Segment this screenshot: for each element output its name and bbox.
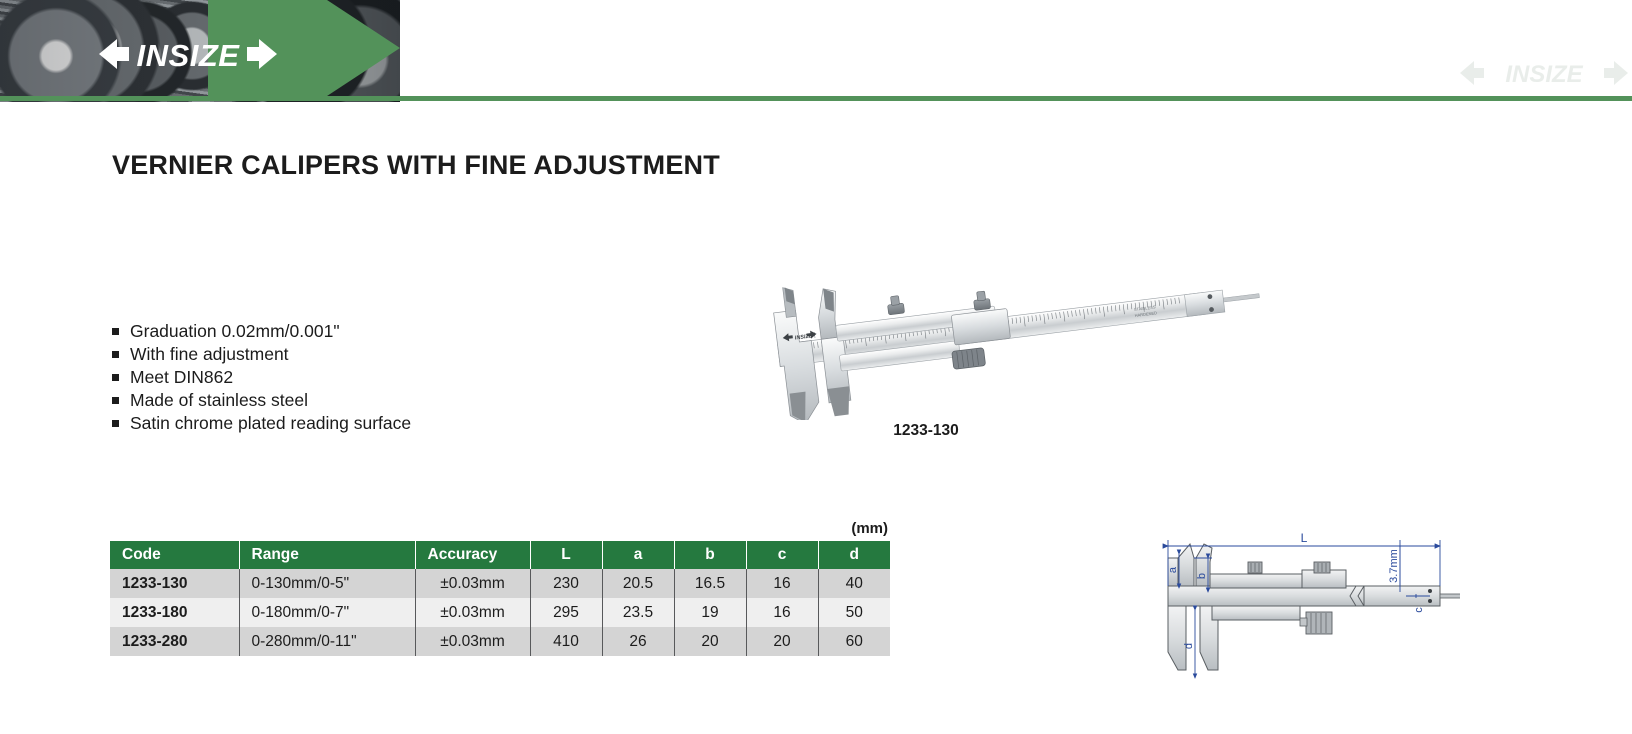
- table-row: 1233-130 0-130mm/0-5" ±0.03mm 230 20.5 1…: [110, 569, 890, 598]
- table-row: 1233-180 0-180mm/0-7" ±0.03mm 295 23.5 1…: [110, 598, 890, 627]
- cell-range: 0-180mm/0-7": [239, 598, 415, 627]
- list-item: Made of stainless steel: [112, 389, 411, 412]
- feature-text: Made of stainless steel: [130, 389, 308, 412]
- product-model-caption: 1233-130: [726, 422, 1126, 440]
- cell-c: 16: [746, 569, 818, 598]
- cell-code: 1233-130: [110, 569, 239, 598]
- cell-a: 20.5: [602, 569, 674, 598]
- square-bullet-icon: [112, 397, 119, 404]
- column-header-accuracy: Accuracy: [415, 541, 530, 569]
- cell-l: 410: [530, 627, 602, 656]
- column-header-b: b: [674, 541, 746, 569]
- list-item: Meet DIN862: [112, 366, 411, 389]
- dimension-label-thickness: 3.7mm: [1388, 549, 1400, 583]
- header-green-rule: [0, 96, 1632, 101]
- cell-d: 50: [818, 598, 890, 627]
- feature-text: Graduation 0.02mm/0.001": [130, 320, 340, 343]
- cell-accuracy: ±0.03mm: [415, 627, 530, 656]
- cell-d: 40: [818, 569, 890, 598]
- column-header-c: c: [746, 541, 818, 569]
- page-header-banner: INSIZE INSIZE: [0, 0, 1632, 102]
- feature-text: Satin chrome plated reading surface: [130, 412, 411, 435]
- svg-text:INSIZE: INSIZE: [137, 38, 241, 73]
- list-item: Satin chrome plated reading surface: [112, 412, 411, 435]
- column-header-l: L: [530, 541, 602, 569]
- feature-text: With fine adjustment: [130, 343, 289, 366]
- cell-code: 1233-180: [110, 598, 239, 627]
- insize-logo: INSIZE: [97, 33, 279, 75]
- cell-l: 230: [530, 569, 602, 598]
- svg-text:INSIZE: INSIZE: [1505, 61, 1583, 88]
- column-header-code: Code: [110, 541, 239, 569]
- insize-watermark: INSIZE: [1458, 56, 1630, 90]
- square-bullet-icon: [112, 351, 119, 358]
- cell-d: 60: [818, 627, 890, 656]
- table-row: 1233-280 0-280mm/0-11" ±0.03mm 410 26 20…: [110, 627, 890, 656]
- cell-c: 16: [746, 598, 818, 627]
- list-item: With fine adjustment: [112, 343, 411, 366]
- product-photo-vernier-caliper: INSIZE STAINLESS HARDENED: [726, 240, 1266, 420]
- feature-list: Graduation 0.02mm/0.001" With fine adjus…: [112, 320, 411, 435]
- cell-b: 20: [674, 627, 746, 656]
- table-unit-label: (mm): [110, 520, 890, 537]
- cell-accuracy: ±0.03mm: [415, 569, 530, 598]
- list-item: Graduation 0.02mm/0.001": [112, 320, 411, 343]
- cell-code: 1233-280: [110, 627, 239, 656]
- page-title: VERNIER CALIPERS WITH FINE ADJUSTMENT: [112, 150, 720, 181]
- product-datasheet-page: INSIZE INSIZE VERNIER CALIPERS WITH FINE…: [0, 0, 1632, 734]
- feature-text: Meet DIN862: [130, 366, 233, 389]
- dimension-label-L: L: [1301, 531, 1308, 545]
- column-header-a: a: [602, 541, 674, 569]
- square-bullet-icon: [112, 420, 119, 427]
- specification-table-wrapper: (mm) Code Range Accuracy L a b c d: [110, 520, 890, 656]
- cell-c: 20: [746, 627, 818, 656]
- cell-b: 16.5: [674, 569, 746, 598]
- specification-table: Code Range Accuracy L a b c d 1233-130 0…: [110, 541, 890, 656]
- dimension-label-b: b: [1196, 573, 1208, 579]
- square-bullet-icon: [112, 328, 119, 335]
- dimension-label-c: c: [1413, 607, 1425, 613]
- cell-b: 19: [674, 598, 746, 627]
- dimension-label-d: d: [1183, 643, 1195, 649]
- cell-a: 26: [602, 627, 674, 656]
- cell-l: 295: [530, 598, 602, 627]
- cell-a: 23.5: [602, 598, 674, 627]
- column-header-range: Range: [239, 541, 415, 569]
- cell-accuracy: ±0.03mm: [415, 598, 530, 627]
- square-bullet-icon: [112, 374, 119, 381]
- table-header-row: Code Range Accuracy L a b c d: [110, 541, 890, 569]
- dimension-drawing: L a b d 3.7mm c: [1100, 500, 1460, 680]
- dimension-label-a: a: [1167, 566, 1179, 573]
- cell-range: 0-130mm/0-5": [239, 569, 415, 598]
- column-header-d: d: [818, 541, 890, 569]
- cell-range: 0-280mm/0-11": [239, 627, 415, 656]
